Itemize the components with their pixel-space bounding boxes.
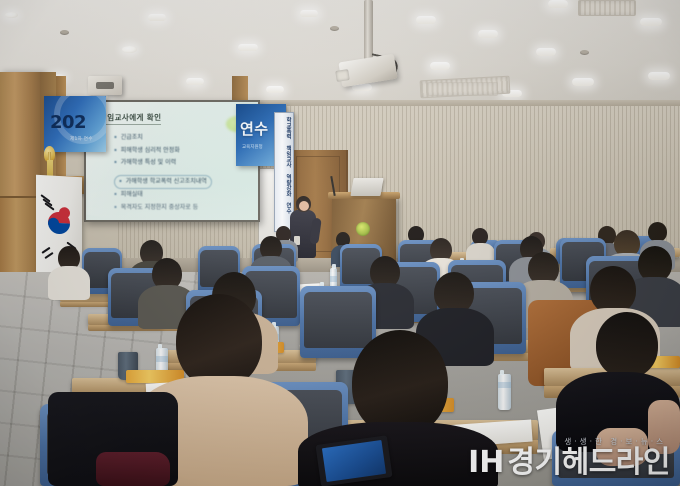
- banner-middle-subtitle: 교육지원청: [242, 144, 263, 150]
- ceiling-downlight: [122, 46, 137, 53]
- water-bottle: [498, 374, 511, 410]
- banner-year: 202: [50, 112, 86, 133]
- ceiling-downlight: [300, 10, 318, 17]
- banner-left: 202 제1차 연수: [44, 96, 106, 152]
- slide-bullet: 가해학생 특성 및 이력: [114, 157, 250, 170]
- screen-glare: [86, 179, 258, 220]
- ceiling-downlight: [238, 44, 258, 51]
- slide-bullet: 피해학생 심리적 안정화: [114, 145, 250, 158]
- taeguk-swirl-blue: [48, 217, 59, 229]
- attendee-shoulders: [48, 266, 90, 300]
- presenter-face: [299, 201, 309, 211]
- podium-emblem-icon: [356, 222, 370, 236]
- bag: [96, 452, 170, 486]
- attendee-head: [176, 294, 262, 388]
- projection-screen: 위임교사에게 확인 긴급조치 피해학생 심리적 안정화 가해학생 특성 및 이력…: [84, 100, 260, 222]
- hand: [596, 428, 648, 466]
- attendee-head: [596, 312, 658, 378]
- ceiling-downlight: [5, 12, 18, 18]
- ceiling-downlight: [572, 78, 594, 86]
- ceiling-downlight: [548, 0, 568, 8]
- trigram-bar: [44, 252, 53, 259]
- hand: [648, 400, 680, 454]
- projector-lens-icon: [335, 69, 350, 82]
- ceiling-downlight: [148, 14, 166, 21]
- smoke-detector-icon: [60, 30, 69, 35]
- banner-subtitle: 제1차 연수: [70, 136, 93, 142]
- ceiling-downlight: [478, 30, 498, 38]
- slide-title: 위임교사에게 확인: [100, 112, 161, 123]
- smartphone-screen: [322, 440, 387, 483]
- taeguk-swirl-red: [59, 207, 70, 219]
- presenter-laptop: [350, 178, 383, 196]
- banner-middle-text: 연수: [240, 118, 269, 139]
- smartphone[interactable]: [315, 435, 392, 486]
- ceiling-downlight: [648, 72, 670, 80]
- ceiling-vent: [426, 82, 498, 96]
- ceiling-vent: [578, 0, 636, 16]
- attendee-head: [648, 222, 667, 242]
- banner-vertical-text: 학교폭력 책임교사 역량강화 연수: [277, 117, 291, 214]
- ceiling-downlight: [266, 86, 284, 93]
- attendee-head: [590, 266, 636, 314]
- ceiling-downlight: [416, 16, 436, 24]
- smoke-detector-icon: [580, 50, 589, 55]
- wall-speaker-grille: [96, 82, 114, 89]
- ceiling-downlight: [640, 18, 662, 26]
- ceiling-downlight: [430, 62, 450, 70]
- chair-backrest: [304, 292, 372, 348]
- ceiling-downlight: [186, 78, 204, 85]
- slide-bullet: 긴급조치: [114, 132, 250, 145]
- lecture-hall-photo: 위임교사에게 확인 긴급조치 피해학생 심리적 안정화 가해학생 특성 및 이력…: [0, 0, 680, 486]
- ceiling-downlight: [536, 48, 556, 56]
- attendee-head: [352, 330, 448, 436]
- smoke-detector-icon: [330, 26, 339, 31]
